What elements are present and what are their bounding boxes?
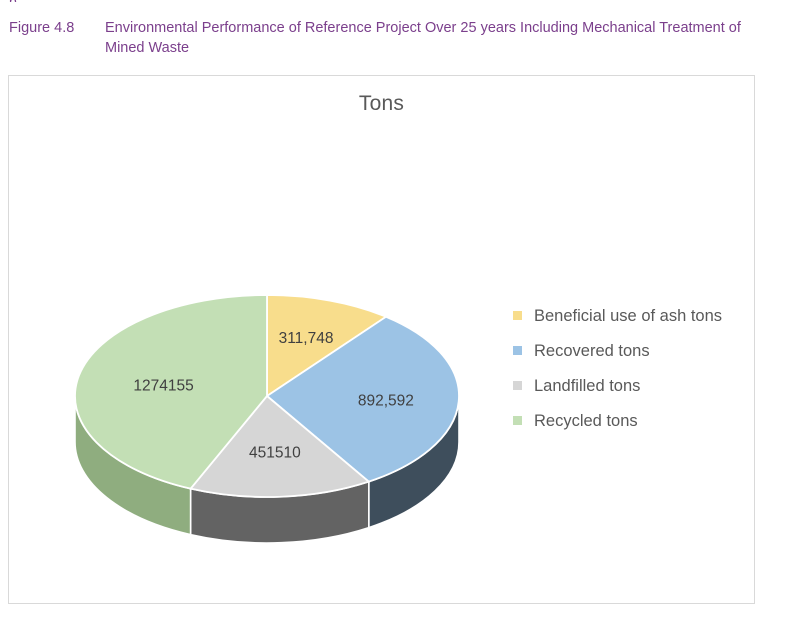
legend-item-landfilled[interactable]: Landfilled tons [513,368,753,403]
legend-swatch-icon [513,311,522,320]
chart-title: Tons [9,92,754,116]
legend-swatch-icon [513,416,522,425]
pie-slice-label-1: 311,748 [279,330,334,347]
legend-item-recovered[interactable]: Recovered tons [513,333,753,368]
legend-item-beneficial-use-of-ash[interactable]: Beneficial use of ash tons [513,298,753,333]
legend-label: Landfilled tons [534,377,640,395]
legend-label: Recycled tons [534,412,638,430]
pie-chart-svg: 311,748892,5924515101274155 [9,131,509,551]
chart-container: Tons 311,748892,5924515101274155 Benefic… [8,75,755,604]
legend-label: Beneficial use of ash tons [534,307,722,325]
figure-caption: Figure 4.8 Environmental Performance of … [9,18,779,58]
pie-slice-label-4: 1274155 [133,378,193,395]
legend-label: Recovered tons [534,342,650,360]
legend-item-recycled[interactable]: Recycled tons [513,403,753,438]
pie-slice-label-3: 451510 [249,444,301,461]
chart-legend: Beneficial use of ash tons Recovered ton… [513,298,753,438]
pie-slice-label-2: 892,592 [358,392,414,409]
caption-overflow-glyph: p [9,0,35,2]
figure-title: Environmental Performance of Reference P… [105,18,751,58]
figure-number: Figure 4.8 [9,18,105,38]
legend-swatch-icon [513,346,522,355]
pie-chart: 311,748892,5924515101274155 [9,131,509,551]
legend-swatch-icon [513,381,522,390]
